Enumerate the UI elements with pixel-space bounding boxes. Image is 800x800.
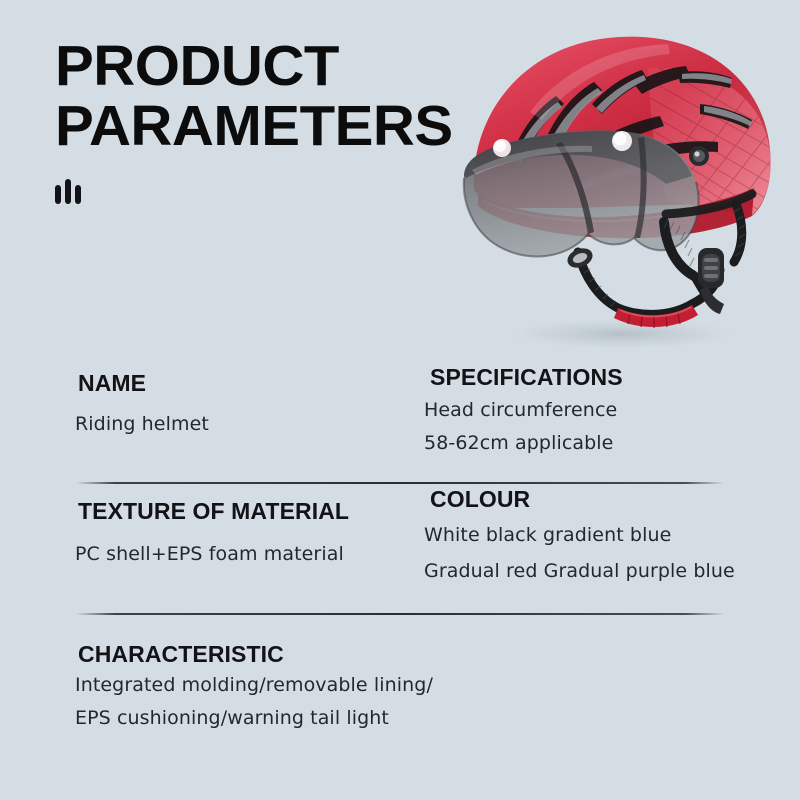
equalizer-bars-icon bbox=[55, 178, 475, 204]
spec-value-characteristic-line-1: Integrated molding/removable lining/ bbox=[75, 669, 800, 702]
spec-label-texture-of-material: TEXTURE OF MATERIAL bbox=[78, 496, 390, 526]
spec-cell-colour: COLOUR White black gradient blue Gradual… bbox=[390, 484, 760, 586]
spec-cell-texture-of-material: TEXTURE OF MATERIAL PC shell+EPS foam ma… bbox=[0, 484, 390, 586]
strap-buckle bbox=[698, 248, 724, 314]
spec-label-name: NAME bbox=[78, 368, 390, 398]
spec-cell-characteristic: CHARACTERISTIC Integrated molding/remova… bbox=[0, 615, 800, 735]
title-line-1: PRODUCT bbox=[55, 36, 483, 96]
spec-value-characteristic-line-2: EPS cushioning/warning tail light bbox=[75, 702, 800, 735]
title-line-2: PARAMETERS bbox=[55, 96, 483, 156]
spec-value-specifications-line-1: Head circumference bbox=[424, 396, 760, 425]
spec-value-name: Riding helmet bbox=[75, 410, 390, 439]
product-helmet-image bbox=[452, 8, 792, 353]
spec-value-specifications-line-2: 58-62cm applicable bbox=[424, 429, 760, 458]
spec-value-colour-line-1: White black gradient blue bbox=[424, 521, 760, 550]
spec-value-colour-line-2: Gradual red Gradual purple blue bbox=[424, 557, 760, 586]
spec-cell-name: NAME Riding helmet bbox=[0, 362, 390, 458]
spec-label-colour: COLOUR bbox=[430, 484, 760, 514]
spec-label-characteristic: CHARACTERISTIC bbox=[78, 639, 800, 669]
spec-cell-specifications: SPECIFICATIONS Head circumference 58-62c… bbox=[390, 362, 760, 458]
page-title: PRODUCT PARAMETERS bbox=[55, 36, 475, 204]
spec-value-texture-of-material: PC shell+EPS foam material bbox=[75, 540, 390, 569]
spec-row-name: NAME Riding helmet SPECIFICATIONS Head c… bbox=[0, 362, 800, 458]
spec-label-specifications: SPECIFICATIONS bbox=[430, 362, 760, 392]
helmet-side-screw bbox=[689, 146, 709, 166]
spec-row-material: TEXTURE OF MATERIAL PC shell+EPS foam ma… bbox=[0, 484, 800, 586]
specifications-table: NAME Riding helmet SPECIFICATIONS Head c… bbox=[0, 362, 800, 735]
